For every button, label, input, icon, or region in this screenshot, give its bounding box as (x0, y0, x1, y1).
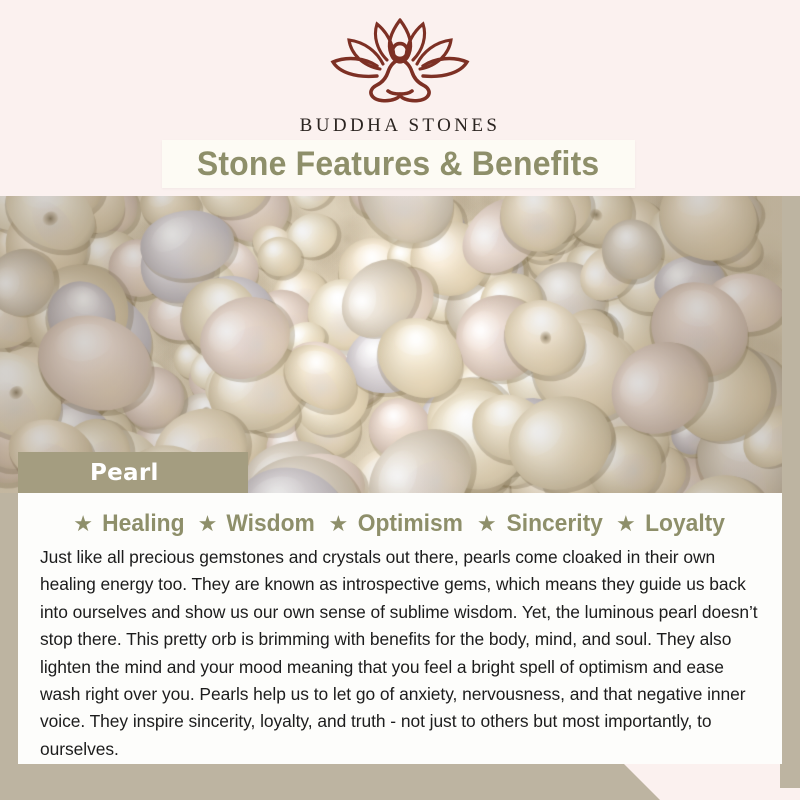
keyword-list: ★Healing★Wisdom★Optimism★Sincerity★Loyal… (18, 510, 782, 538)
keyword-label: Wisdom (227, 510, 315, 538)
stone-name-bar: Pearl (18, 452, 248, 493)
brand-name: BUDDHA STONES (300, 115, 501, 137)
lotus-meditation-figure-icon (325, 14, 475, 110)
keyword-item: ★Optimism (328, 510, 465, 538)
star-icon: ★ (616, 513, 636, 535)
stone-photo (0, 188, 782, 493)
keyword-label: Healing (102, 510, 184, 538)
brand-logo: BUDDHA STONES (0, 14, 800, 137)
star-icon: ★ (328, 513, 348, 535)
stone-description: Just like all precious gemstones and cry… (40, 544, 760, 763)
star-icon: ★ (198, 513, 218, 535)
keyword-label: Loyalty (645, 510, 725, 538)
star-icon: ★ (477, 513, 497, 535)
frame-bottom-band (0, 760, 800, 800)
keyword-item: ★Sincerity (477, 510, 605, 538)
keyword-label: Optimism (358, 510, 463, 538)
pearl-photo-canvas (0, 188, 782, 493)
keyword-item: ★Wisdom (198, 510, 318, 538)
page-title: Stone Features & Benefits (197, 145, 600, 184)
content-card: ★Healing★Wisdom★Optimism★Sincerity★Loyal… (18, 493, 782, 764)
star-icon: ★ (73, 513, 93, 535)
keyword-item: ★Healing (73, 510, 186, 538)
stone-name-label: Pearl (90, 460, 159, 486)
keyword-label: Sincerity (506, 510, 602, 538)
keyword-item: ★Loyalty (616, 510, 727, 538)
title-banner: Stone Features & Benefits (162, 140, 635, 188)
